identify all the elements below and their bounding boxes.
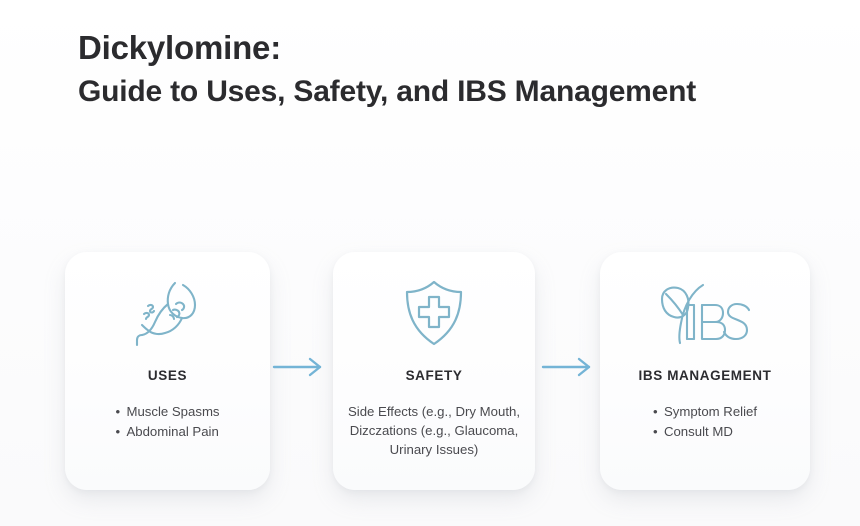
safety-text-line: Side Effects (e.g., Dry Mouth,	[341, 402, 527, 421]
safety-text-line: Dizczations (e.g., Glaucoma,	[341, 421, 527, 440]
ibs-list: Symptom Relief Consult MD	[653, 402, 757, 442]
card-ibs-management[interactable]: IBS MANAGEMENT Symptom Relief Consult MD	[600, 252, 810, 490]
title-line-secondary: Guide to Uses, Safety, and IBS Managemen…	[78, 70, 798, 114]
card-safety[interactable]: SAFETY Side Effects (e.g., Dry Mouth, Di…	[333, 252, 535, 490]
list-item: Muscle Spasms	[115, 402, 219, 422]
list-item: Abdominal Pain	[115, 422, 219, 442]
infographic-page: Dickylomine: Guide to Uses, Safety, and …	[0, 0, 860, 526]
card-body-uses: Muscle Spasms Abdominal Pain	[73, 402, 262, 442]
page-title: Dickylomine: Guide to Uses, Safety, and …	[78, 26, 798, 114]
list-item: Symptom Relief	[653, 402, 757, 422]
card-uses[interactable]: USES Muscle Spasms Abdominal Pain	[65, 252, 270, 490]
stomach-icon	[65, 270, 270, 356]
arrow-right-icon-safety-to-ibs	[541, 355, 597, 379]
uses-list: Muscle Spasms Abdominal Pain	[115, 402, 219, 442]
arrow-right-icon-uses-to-safety	[272, 355, 328, 379]
cards-row: USES Muscle Spasms Abdominal Pain SAFETY…	[0, 252, 860, 492]
card-title-uses: USES	[65, 368, 270, 383]
card-body-safety: Side Effects (e.g., Dry Mouth, Dizczatio…	[341, 402, 527, 459]
card-body-ibs-management: Symptom Relief Consult MD	[608, 402, 802, 442]
ibs-leaf-icon	[600, 270, 810, 356]
shield-cross-icon	[333, 270, 535, 356]
safety-text-line: Urinary Issues)	[341, 440, 527, 459]
list-item: Consult MD	[653, 422, 757, 442]
card-title-safety: SAFETY	[333, 368, 535, 383]
title-line-primary: Dickylomine:	[78, 26, 798, 70]
card-title-ibs-management: IBS MANAGEMENT	[600, 368, 810, 383]
